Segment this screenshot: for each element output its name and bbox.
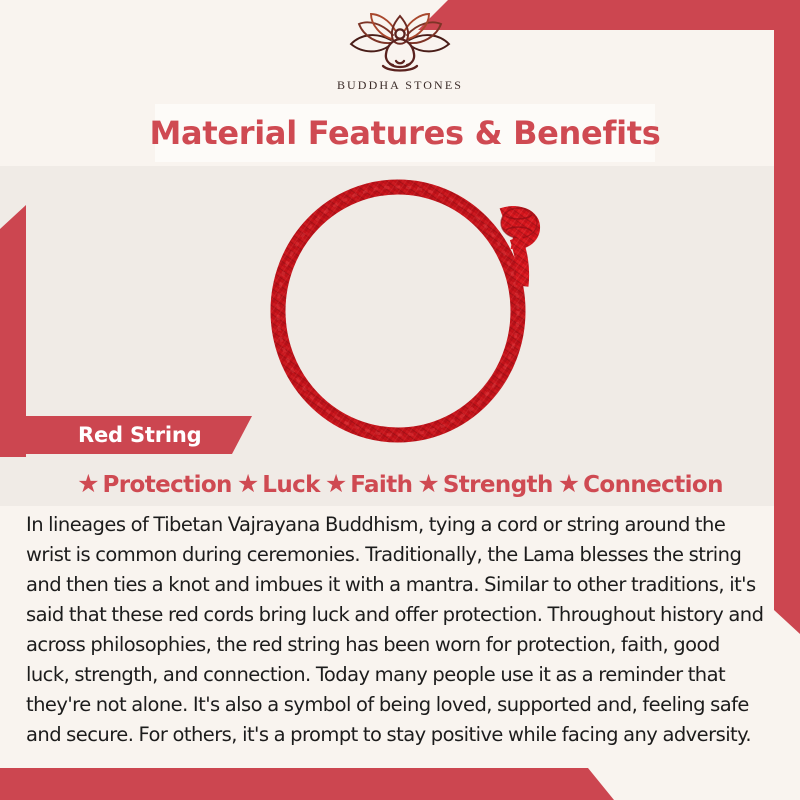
material-name: Red String [78, 423, 201, 447]
benefit-label: Connection [583, 472, 723, 498]
benefit-item-protection: ★ Protection [77, 472, 232, 498]
infographic-page: BUDDHA STONES Material Features & Benefi… [0, 0, 800, 800]
star-icon: ★ [558, 472, 580, 497]
lotus-meditation-figure-icon [335, 10, 465, 76]
benefit-item-connection: ★ Connection [558, 472, 723, 498]
brand-name: BUDDHA STONES [337, 78, 463, 93]
star-icon: ★ [237, 472, 259, 497]
decor-bar-left [0, 205, 26, 457]
star-icon: ★ [417, 472, 439, 497]
benefit-label: Protection [103, 472, 232, 498]
decor-bar-right [774, 0, 800, 634]
benefit-item-strength: ★ Strength [417, 472, 552, 498]
star-icon: ★ [325, 472, 347, 497]
decor-bar-bottom-left [0, 768, 614, 800]
benefit-item-luck: ★ Luck [237, 472, 320, 498]
description-text: In lineages of Tibetan Vajrayana Buddhis… [26, 510, 768, 750]
brand-logo: BUDDHA STONES [0, 10, 800, 93]
benefits-row: ★ Protection ★ Luck ★ Faith ★ Strength ★… [26, 466, 774, 504]
product-image-red-string-bracelet [240, 168, 562, 450]
benefit-item-faith: ★ Faith [325, 472, 413, 498]
description-block: In lineages of Tibetan Vajrayana Buddhis… [26, 510, 768, 750]
material-ribbon: Red String [26, 416, 252, 454]
star-icon: ★ [77, 472, 99, 497]
page-title: Material Features & Benefits [150, 114, 661, 152]
page-title-banner: Material Features & Benefits [155, 104, 655, 162]
benefit-label: Luck [262, 472, 320, 498]
benefit-label: Strength [443, 472, 553, 498]
benefit-label: Faith [350, 472, 412, 498]
